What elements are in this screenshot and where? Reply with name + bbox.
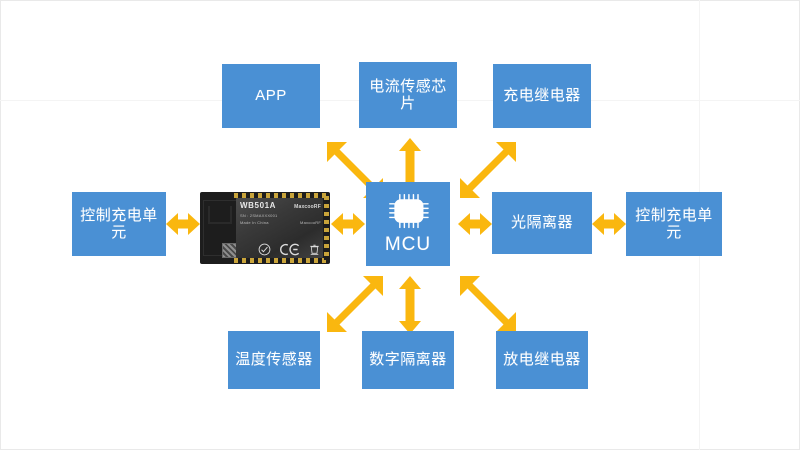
node-temp-sensor[interactable]: 温度传感器 bbox=[228, 331, 320, 389]
module-brand: MaxcooRF bbox=[294, 204, 321, 210]
rohs-icon bbox=[258, 243, 271, 256]
node-discharge-relay-label: 放电继电器 bbox=[502, 351, 582, 368]
connector-digital-isolator-mcu bbox=[399, 276, 421, 334]
node-digital-isolator-label: 数字隔离器 bbox=[368, 351, 448, 368]
module-pads-bottom bbox=[234, 258, 329, 263]
ce-mark bbox=[279, 243, 301, 256]
module-compliance-marks bbox=[258, 243, 320, 256]
node-mcu[interactable]: MCU bbox=[366, 182, 450, 266]
node-control-unit-left-label: 控制充电单元 bbox=[78, 207, 160, 242]
microcontroller-chip-icon bbox=[385, 192, 431, 232]
connector-module-mcu bbox=[331, 213, 365, 235]
module-brand-2: MaxcooRF bbox=[300, 220, 321, 225]
module-part-row: WB501A MaxcooRF bbox=[240, 201, 321, 210]
node-digital-isolator[interactable]: 数字隔离器 bbox=[362, 331, 454, 389]
connector-opto-isolator-control-unit-right bbox=[592, 213, 626, 235]
module-origin-row: Made In China MaxcooRF bbox=[240, 220, 321, 225]
connector-temp-sensor-mcu bbox=[325, 274, 385, 334]
node-charge-relay[interactable]: 充电继电器 bbox=[493, 64, 591, 128]
node-control-unit-right-label: 控制充电单元 bbox=[632, 207, 716, 242]
node-current-sensor[interactable]: 电流传感芯片 bbox=[359, 62, 457, 128]
node-discharge-relay[interactable]: 放电继电器 bbox=[496, 331, 588, 389]
module-antenna-trace bbox=[208, 206, 232, 224]
node-app[interactable]: APP bbox=[222, 64, 320, 128]
weee-icon bbox=[309, 243, 320, 256]
wb501a-module-photo: WB501A MaxcooRF SN : 2SMAXXX001 Made In … bbox=[200, 192, 330, 264]
node-control-unit-right[interactable]: 控制充电单元 bbox=[626, 192, 722, 256]
module-serial: SN : 2SMAXXX001 bbox=[240, 213, 321, 218]
node-opto-isolator[interactable]: 光隔离器 bbox=[492, 192, 592, 254]
module-part-number: WB501A bbox=[240, 201, 276, 210]
node-app-label: APP bbox=[228, 87, 314, 104]
connector-charge-relay-mcu bbox=[458, 140, 518, 200]
connector-mcu-opto-isolator bbox=[458, 213, 492, 235]
module-silkscreen: WB501A MaxcooRF SN : 2SMAXXX001 Made In … bbox=[240, 201, 321, 225]
node-opto-isolator-label: 光隔离器 bbox=[498, 214, 586, 231]
node-mcu-label: MCU bbox=[372, 234, 444, 256]
node-charge-relay-label: 充电继电器 bbox=[499, 87, 585, 104]
slide-frame-left bbox=[0, 0, 1, 450]
module-ipex-pad bbox=[222, 243, 237, 258]
node-control-unit-left[interactable]: 控制充电单元 bbox=[72, 192, 166, 256]
connector-discharge-relay-mcu bbox=[458, 274, 518, 334]
node-temp-sensor-label: 温度传感器 bbox=[234, 351, 314, 368]
node-current-sensor-label: 电流传感芯片 bbox=[365, 78, 451, 113]
diagram-canvas: APP 电流传感芯片 充电继电器 控制充电单元 WB501A MaxcooRF … bbox=[0, 0, 800, 450]
module-pads-right bbox=[324, 196, 329, 260]
slide-frame-top bbox=[0, 0, 800, 1]
module-origin: Made In China bbox=[240, 220, 269, 225]
connector-control-unit-left-module bbox=[166, 213, 200, 235]
